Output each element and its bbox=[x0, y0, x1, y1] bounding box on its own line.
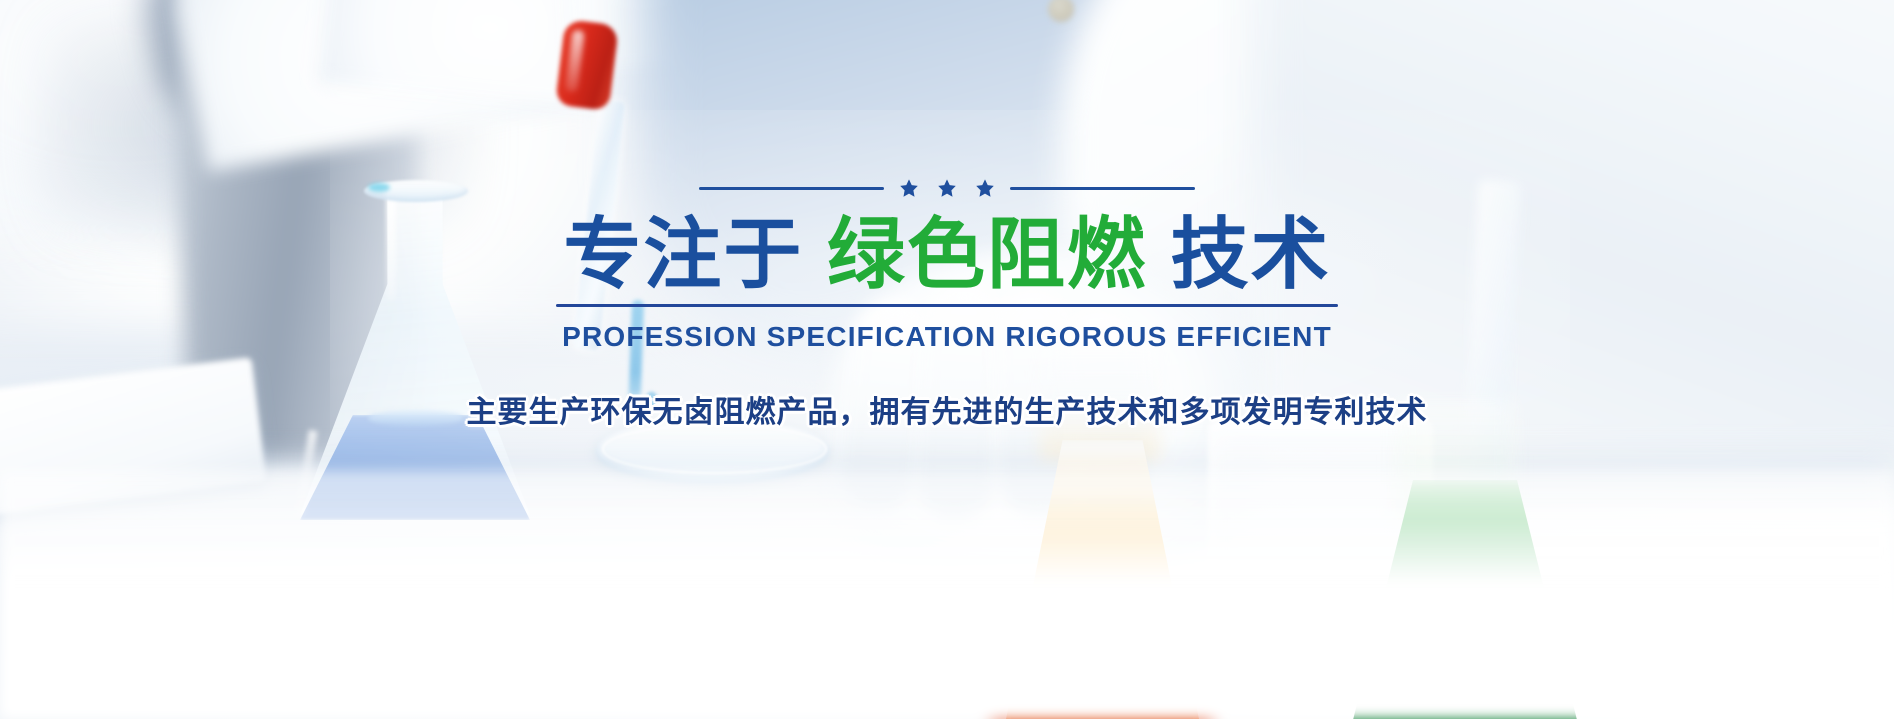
divider-rule-right bbox=[1010, 187, 1195, 190]
title-part-focus: 专注于 bbox=[563, 210, 827, 298]
title-part-technology: 技术 bbox=[1147, 210, 1331, 298]
star-icon bbox=[898, 178, 920, 199]
divider-rule-left bbox=[699, 187, 884, 190]
page-title: 专注于 绿色阻燃 技术 bbox=[563, 213, 1330, 296]
page-subtitle: PROFESSION SPECIFICATION RIGOROUS EFFICI… bbox=[562, 321, 1332, 353]
title-part-green-flame: 绿色阻燃 bbox=[827, 210, 1147, 298]
title-underline bbox=[556, 304, 1338, 307]
star-icon bbox=[974, 178, 996, 199]
hero-banner: 专注于 绿色阻燃 技术 PROFESSION SPECIFICATION RIG… bbox=[0, 0, 1894, 719]
star-group bbox=[898, 178, 996, 199]
decorative-divider bbox=[699, 178, 1195, 199]
star-icon bbox=[936, 178, 958, 199]
page-tagline: 主要生产环保无卤阻燃产品，拥有先进的生产技术和多项发明专利技术 bbox=[467, 387, 1428, 431]
banner-content: 专注于 绿色阻燃 技术 PROFESSION SPECIFICATION RIG… bbox=[0, 0, 1894, 719]
